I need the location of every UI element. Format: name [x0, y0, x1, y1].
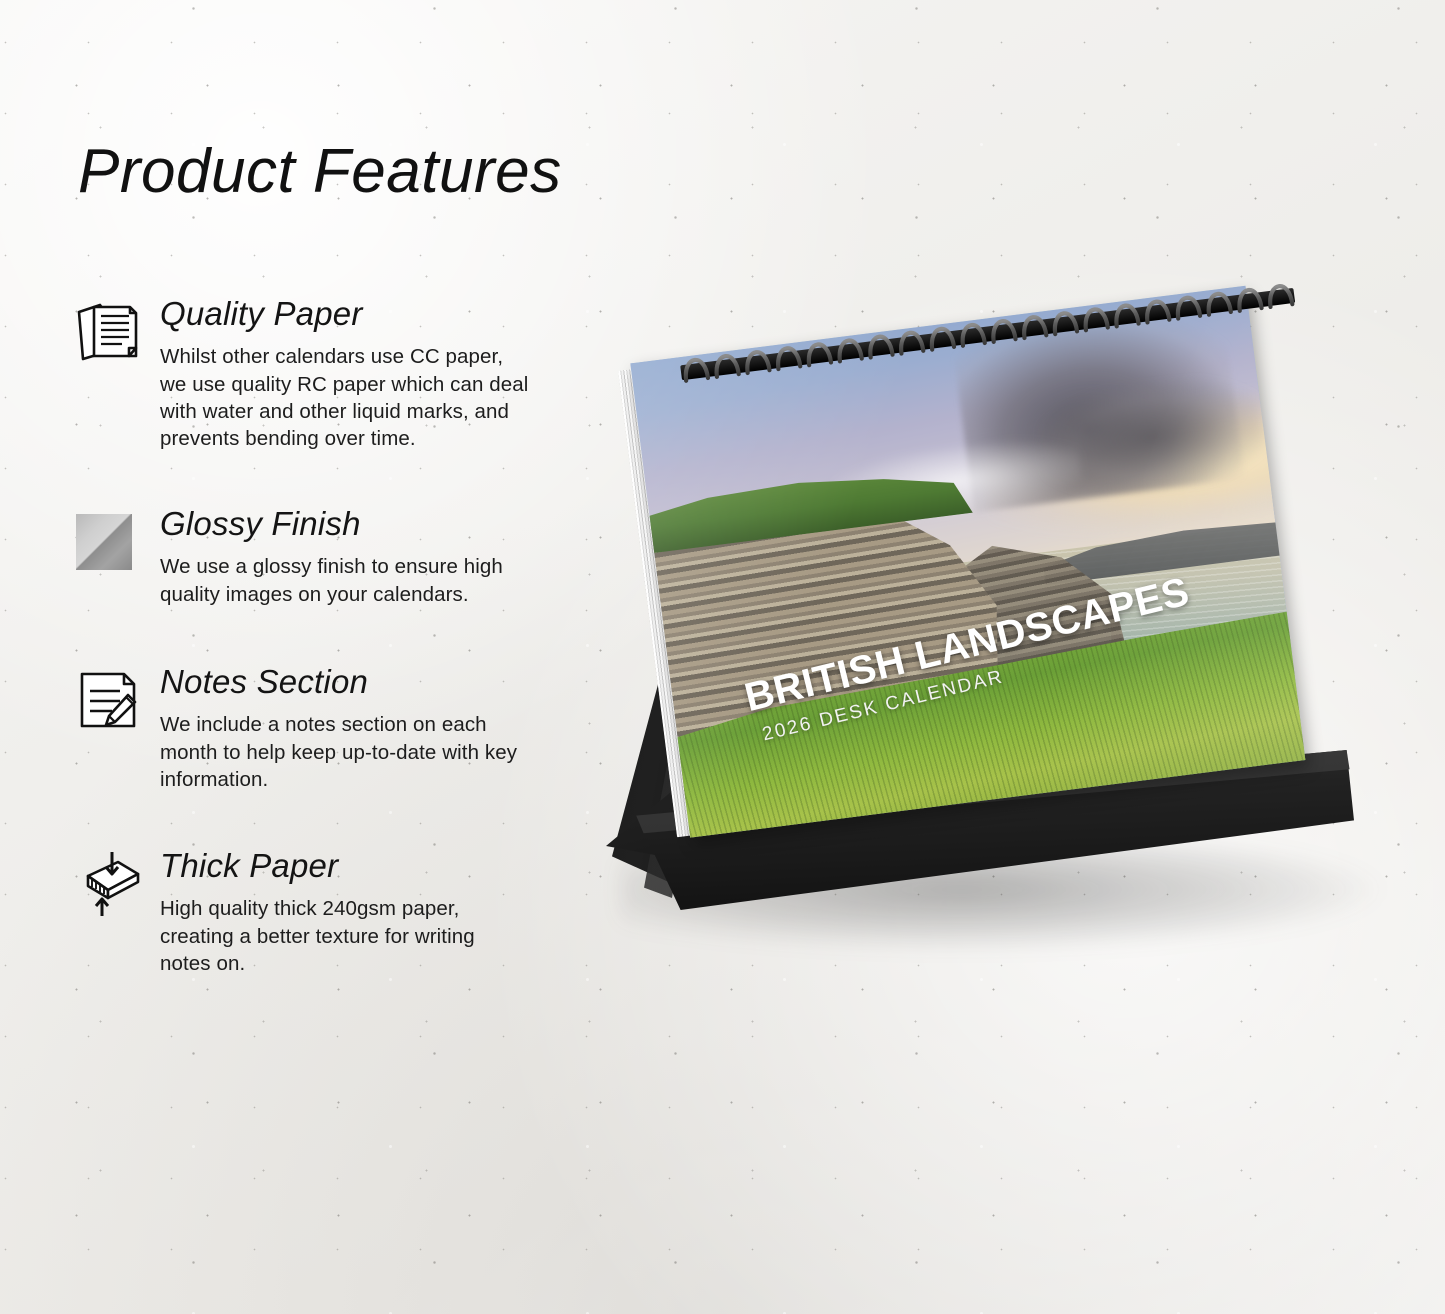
- feature-title: Thick Paper: [160, 848, 632, 884]
- feature-description: We include a notes section on each month…: [160, 711, 632, 793]
- paper-thickness-icon: [72, 848, 144, 920]
- glossy-swatch-icon: [72, 506, 144, 578]
- feature-text-block: Thick Paper High quality thick 240gsm pa…: [160, 848, 632, 977]
- features-column: Product Features Quality Paper Whilst ot…: [0, 0, 640, 1314]
- feature-description: We use a glossy finish to ensure high qu…: [160, 553, 632, 608]
- feature-title: Glossy Finish: [160, 506, 632, 542]
- feature-text-block: Notes Section We include a notes section…: [160, 664, 632, 793]
- feature-description: Whilst other calendars use CC paper, we …: [160, 343, 632, 452]
- desk-calendar-mockup: BRITISH LANDSCAPES 2026 DESK CALENDAR: [590, 320, 1430, 1020]
- feature-item-glossy-finish: Glossy Finish We use a glossy finish to …: [72, 506, 632, 608]
- feature-text-block: Glossy Finish We use a glossy finish to …: [160, 506, 632, 608]
- feature-item-thick-paper: Thick Paper High quality thick 240gsm pa…: [72, 848, 632, 977]
- page-title: Product Features: [78, 136, 562, 207]
- feature-item-quality-paper: Quality Paper Whilst other calendars use…: [72, 296, 632, 452]
- feature-title: Quality Paper: [160, 296, 632, 332]
- feature-title: Notes Section: [160, 664, 632, 700]
- feature-text-block: Quality Paper Whilst other calendars use…: [160, 296, 632, 452]
- feature-item-notes-section: Notes Section We include a notes section…: [72, 664, 632, 793]
- stacked-documents-icon: [72, 296, 144, 368]
- feature-description: High quality thick 240gsm paper, creatin…: [160, 895, 632, 977]
- notepad-pencil-icon: [72, 664, 144, 736]
